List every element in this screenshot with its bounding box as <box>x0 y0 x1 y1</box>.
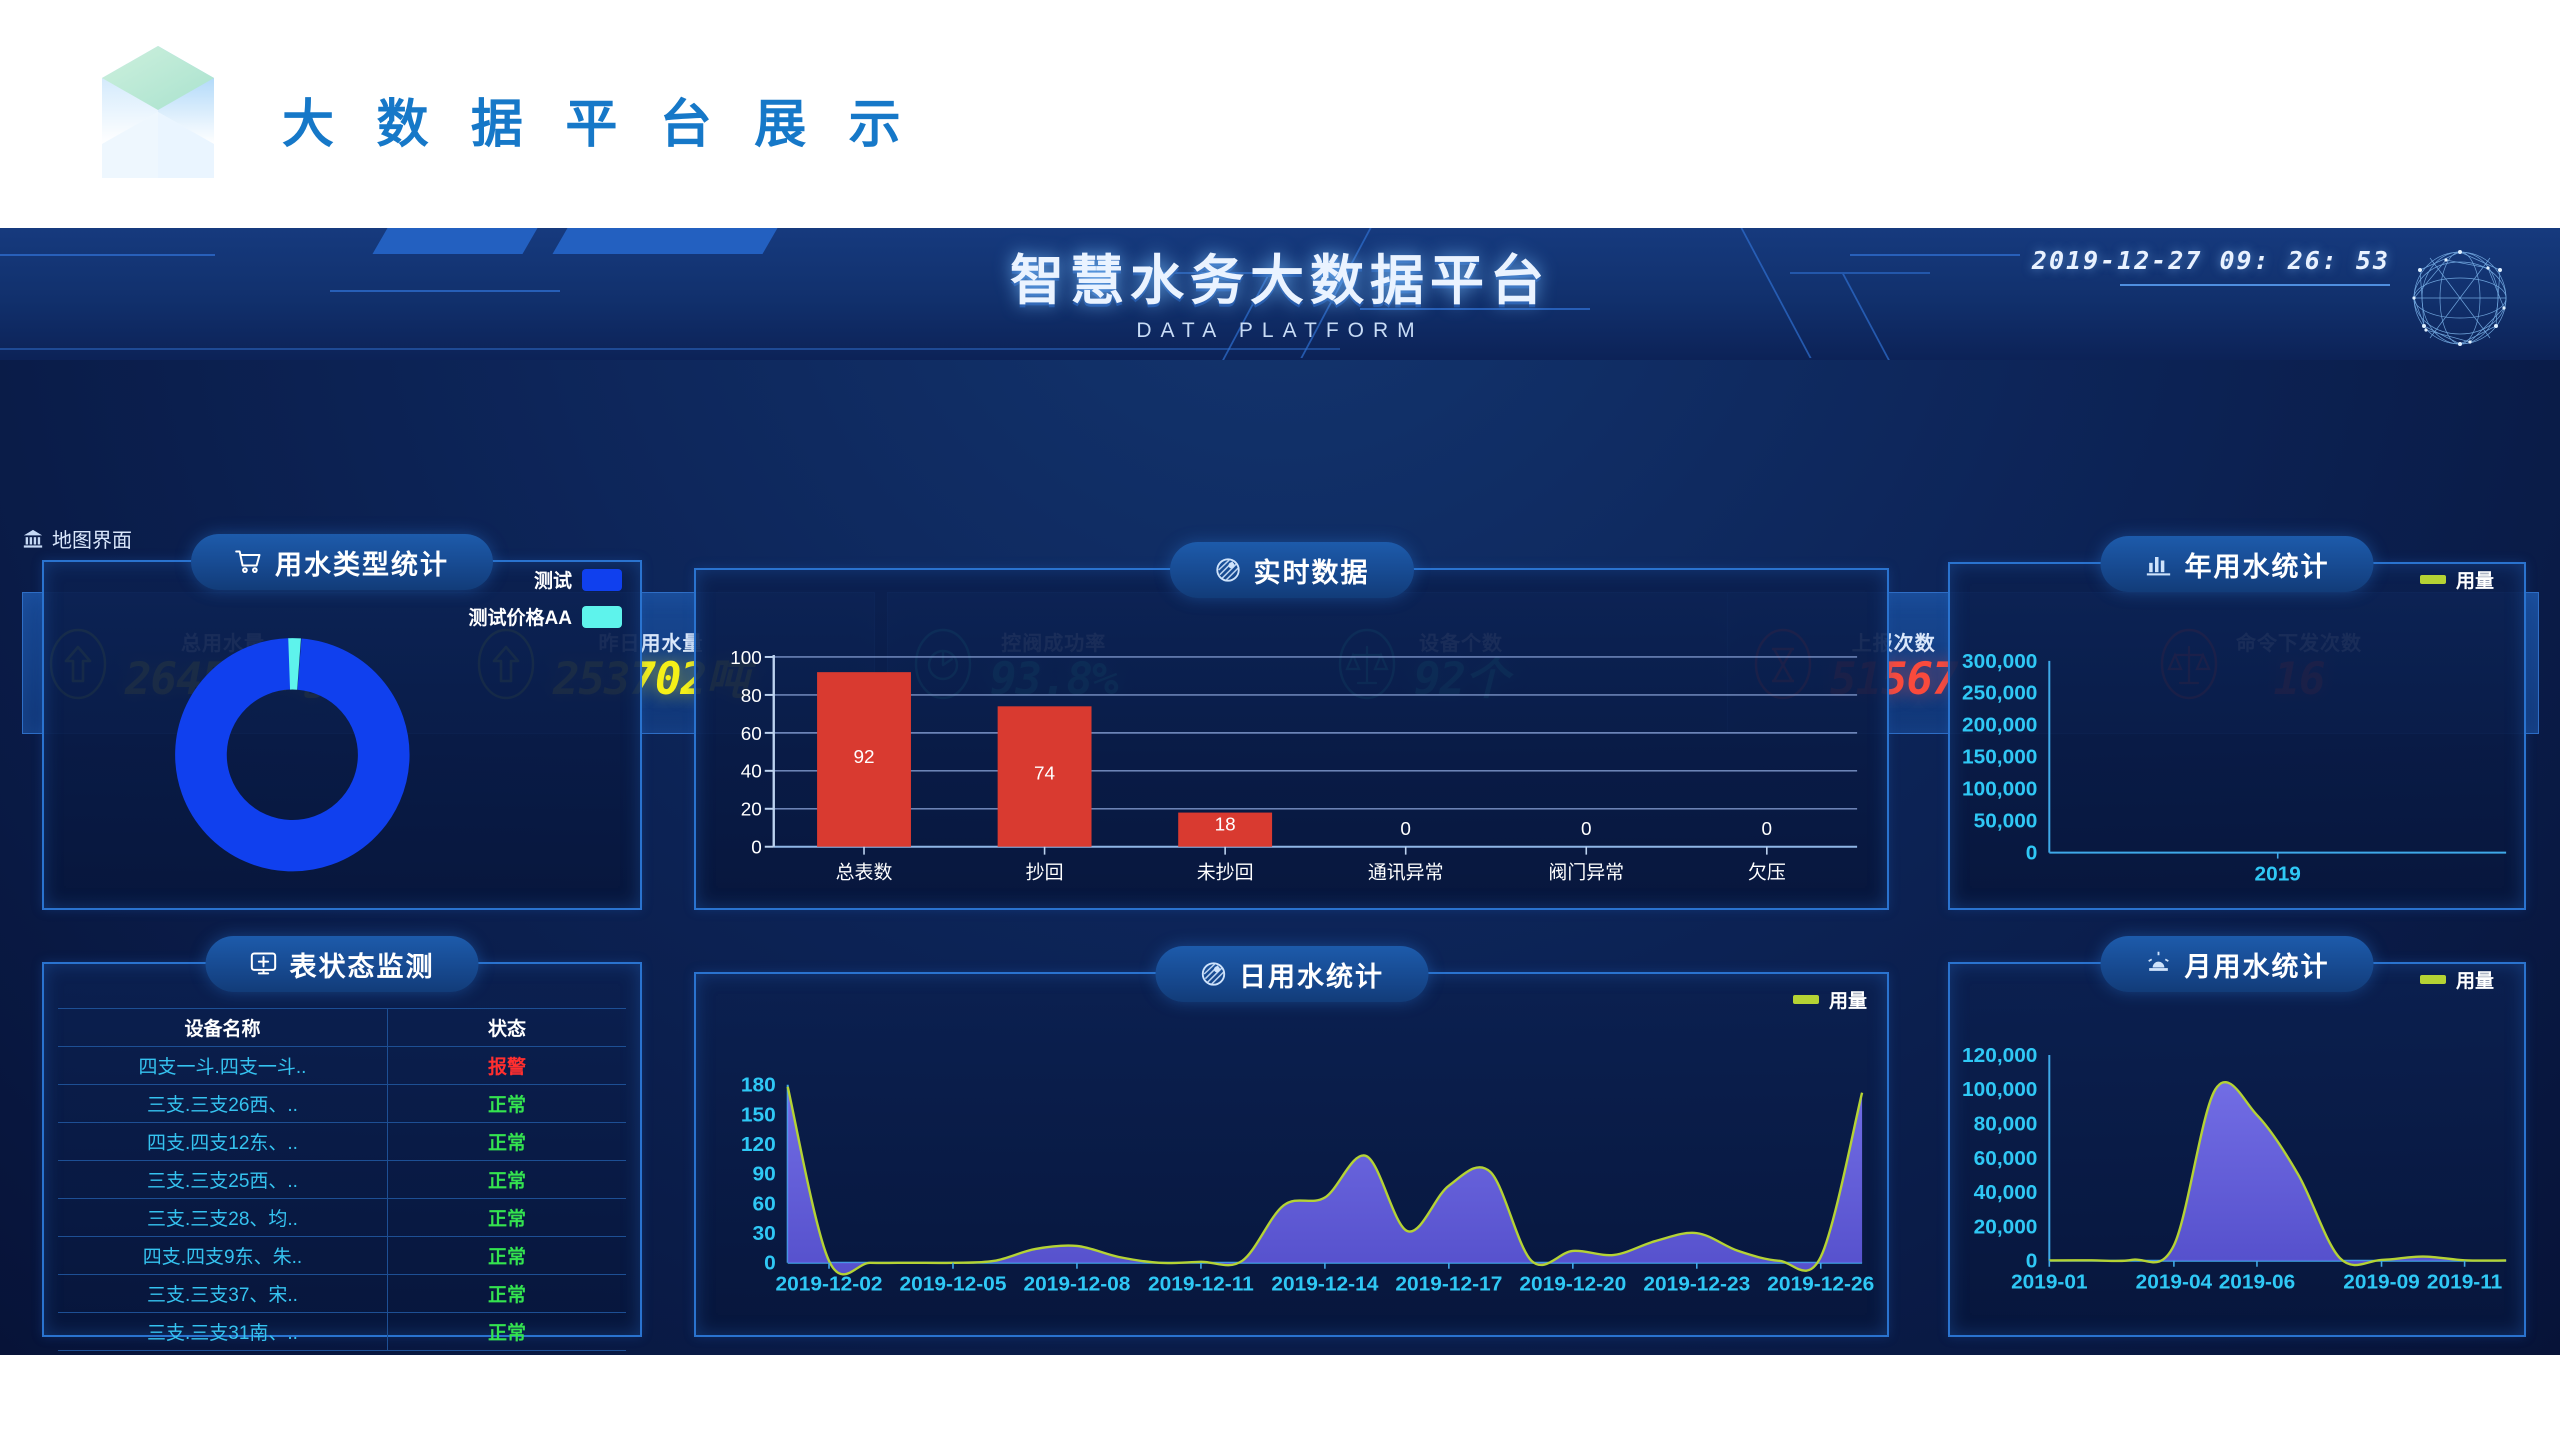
panel-title-text: 月用水统计 <box>2185 945 2330 984</box>
monitor-icon <box>250 950 278 978</box>
svg-text:50,000: 50,000 <box>1974 810 2038 833</box>
legend-item: 用量 <box>1793 986 1867 1013</box>
svg-text:0: 0 <box>2026 1250 2038 1273</box>
dashboard-subtitle: DATA PLATFORM <box>0 319 2560 343</box>
svg-text:200,000: 200,000 <box>1962 714 2037 737</box>
cube-logo-icon <box>98 32 218 192</box>
banner-title: 大 数 据 平 台 展 示 <box>282 82 915 157</box>
svg-text:250,000: 250,000 <box>1962 682 2037 705</box>
svg-text:2019-12-11: 2019-12-11 <box>1148 1273 1254 1296</box>
svg-text:2019-12-23: 2019-12-23 <box>1643 1273 1750 1296</box>
svg-text:30: 30 <box>752 1222 775 1245</box>
panel-title-text: 日用水统计 <box>1239 955 1384 994</box>
cell-device-name: 三支.三支26西、.. <box>58 1085 387 1123</box>
table-row[interactable]: 四支.四支9东、朱..正常 <box>58 1237 626 1275</box>
legend-label: 用量 <box>2456 566 2494 593</box>
table-row[interactable]: 三支.三支26西、..正常 <box>58 1085 626 1123</box>
legend-item: 测试价格AA <box>400 603 622 630</box>
svg-text:0: 0 <box>1400 818 1411 839</box>
panel-title-text: 年用水统计 <box>2185 545 2330 584</box>
cell-device-name: 四支一斗.四支一斗.. <box>58 1047 387 1085</box>
clock-display: 2019-12-27 09: 26: 53 <box>2032 246 2390 275</box>
panel-yearly: 年用水统计 050,000100,000150,000200,000250,00… <box>1948 562 2526 910</box>
svg-text:120,000: 120,000 <box>1962 1044 2037 1067</box>
cell-device-name: 四支.四支12东、.. <box>58 1123 387 1161</box>
svg-text:2019-01: 2019-01 <box>2011 1271 2087 1294</box>
svg-text:2019-12-08: 2019-12-08 <box>1023 1273 1130 1296</box>
panel-title-text: 用水类型统计 <box>275 543 449 582</box>
svg-text:2019-12-17: 2019-12-17 <box>1395 1273 1502 1296</box>
svg-text:20,000: 20,000 <box>1974 1215 2038 1238</box>
clock-underline <box>2120 284 2390 286</box>
table-row[interactable]: 三支.三支31南、..正常 <box>58 1313 626 1351</box>
svg-text:80,000: 80,000 <box>1974 1113 2038 1136</box>
cell-device-name: 三支.三支31南、.. <box>58 1313 387 1351</box>
cell-status: 正常 <box>387 1123 626 1161</box>
cart-icon <box>235 548 263 576</box>
svg-text:欠压: 欠压 <box>1748 861 1786 882</box>
svg-text:阀门异常: 阀门异常 <box>1548 861 1624 882</box>
svg-text:2019-04: 2019-04 <box>2136 1271 2213 1294</box>
monthly-legend: 用量 <box>2420 966 2494 1003</box>
cell-status: 正常 <box>387 1275 626 1313</box>
globe-grid-icon <box>1199 960 1227 988</box>
table-row[interactable]: 四支.四支12东、..正常 <box>58 1123 626 1161</box>
cell-device-name: 三支.三支28、均.. <box>58 1199 387 1237</box>
nav-map-button[interactable]: 地图界面 <box>22 524 132 553</box>
cell-status: 正常 <box>387 1161 626 1199</box>
th-device-name: 设备名称 <box>58 1009 387 1047</box>
cell-device-name: 四支.四支9东、朱.. <box>58 1237 387 1275</box>
svg-text:0: 0 <box>1762 818 1773 839</box>
svg-text:40,000: 40,000 <box>1974 1181 2038 1204</box>
svg-text:2019-12-05: 2019-12-05 <box>900 1273 1007 1296</box>
svg-text:40: 40 <box>741 761 762 782</box>
svg-text:2019-12-20: 2019-12-20 <box>1519 1273 1626 1296</box>
panel-realtime: 实时数据 02040608010092总表数74抄回18未抄回0通讯异常0阀门异… <box>694 568 1889 910</box>
svg-text:100,000: 100,000 <box>1962 778 2037 801</box>
svg-text:74: 74 <box>1034 762 1055 783</box>
svg-text:100: 100 <box>730 647 762 668</box>
panel-daily-title: 日用水统计 <box>1155 946 1428 1002</box>
svg-text:150: 150 <box>741 1103 776 1126</box>
yearly-area-chart: 050,000100,000150,000200,000250,000300,0… <box>1950 564 2524 908</box>
svg-text:2019-12-26: 2019-12-26 <box>1767 1273 1874 1296</box>
bar-chart-icon <box>2145 550 2173 578</box>
legend-swatch <box>582 606 622 628</box>
table-row[interactable]: 三支.三支37、宋..正常 <box>58 1275 626 1313</box>
panel-yearly-title: 年用水统计 <box>2101 536 2374 592</box>
svg-text:18: 18 <box>1215 813 1236 834</box>
bank-building-icon <box>22 528 44 550</box>
svg-text:92: 92 <box>853 746 874 767</box>
svg-text:0: 0 <box>2026 842 2038 865</box>
svg-text:150,000: 150,000 <box>1962 746 2037 769</box>
cell-device-name: 三支.三支37、宋.. <box>58 1275 387 1313</box>
legend-swatch <box>1793 995 1819 1004</box>
panel-title-text: 实时数据 <box>1254 551 1370 590</box>
svg-text:抄回: 抄回 <box>1026 861 1064 882</box>
svg-text:2019-06: 2019-06 <box>2219 1271 2295 1294</box>
svg-text:总表数: 总表数 <box>836 861 893 882</box>
svg-text:通讯异常: 通讯异常 <box>1368 861 1444 882</box>
nav-map-label: 地图界面 <box>52 524 132 553</box>
cell-status: 正常 <box>387 1313 626 1351</box>
svg-text:2019-12-14: 2019-12-14 <box>1271 1273 1378 1296</box>
meter-state-table: 设备名称 状态 四支一斗.四支一斗..报警三支.三支26西、..正常四支.四支1… <box>58 1008 626 1325</box>
legend-label: 测试价格AA <box>469 603 572 630</box>
panel-water-type-title: 用水类型统计 <box>191 534 493 590</box>
network-globe-icon <box>2400 238 2520 358</box>
svg-text:2019-12-02: 2019-12-02 <box>776 1273 883 1296</box>
panel-realtime-title: 实时数据 <box>1170 542 1414 598</box>
svg-text:120: 120 <box>741 1133 776 1156</box>
yearly-legend: 用量 <box>2420 566 2494 603</box>
globe-grid-icon <box>1214 556 1242 584</box>
th-status: 状态 <box>387 1009 626 1047</box>
svg-text:60: 60 <box>741 723 762 744</box>
daily-area-chart: 03060901201501802019-12-022019-12-052019… <box>696 974 1887 1335</box>
cell-device-name: 三支.三支25西、.. <box>58 1161 387 1199</box>
svg-text:20: 20 <box>741 799 762 820</box>
legend-item: 用量 <box>2420 566 2494 593</box>
svg-text:100,000: 100,000 <box>1962 1078 2037 1101</box>
cell-status: 正常 <box>387 1237 626 1275</box>
panel-monthly: 月用水统计 020,00040,00060,00080,000100,00012… <box>1948 962 2526 1337</box>
svg-text:未抄回: 未抄回 <box>1197 861 1254 882</box>
alarm-lamp-icon <box>2145 950 2173 978</box>
svg-text:60: 60 <box>752 1192 775 1215</box>
svg-text:0: 0 <box>1581 818 1592 839</box>
svg-text:0: 0 <box>764 1252 776 1275</box>
table-row[interactable]: 三支.三支25西、..正常 <box>58 1161 626 1199</box>
dashboard-header: 智慧水务大数据平台 DATA PLATFORM 2019-12-27 09: 2… <box>0 228 2560 360</box>
monthly-area-chart: 020,00040,00060,00080,000100,000120,0002… <box>1950 964 2524 1335</box>
legend-label: 测试 <box>534 566 572 593</box>
legend-item: 用量 <box>2420 966 2494 993</box>
panel-monthly-title: 月用水统计 <box>2101 936 2374 992</box>
svg-text:0: 0 <box>751 837 762 858</box>
cell-status: 报警 <box>387 1047 626 1085</box>
svg-text:80: 80 <box>741 685 762 706</box>
cell-status: 正常 <box>387 1085 626 1123</box>
svg-text:2019-09: 2019-09 <box>2343 1271 2419 1294</box>
realtime-bar-chart: 02040608010092总表数74抄回18未抄回0通讯异常0阀门异常0欠压 <box>696 570 1887 908</box>
cell-status: 正常 <box>387 1199 626 1237</box>
svg-text:300,000: 300,000 <box>1962 650 2037 673</box>
legend-label: 用量 <box>1829 986 1867 1013</box>
svg-text:90: 90 <box>752 1163 775 1186</box>
panel-meter-state: 表状态监测 设备名称 状态 四支一斗.四支一斗..报警三支.三支26西、..正常… <box>42 962 642 1337</box>
svg-text:2019-11: 2019-11 <box>2427 1271 2502 1294</box>
panel-daily: 日用水统计 用量 03060901201501802019-12-022019-… <box>694 972 1889 1337</box>
svg-text:60,000: 60,000 <box>1974 1147 2038 1170</box>
table-header-row: 设备名称 状态 <box>58 1009 626 1047</box>
panel-title-text: 表状态监测 <box>290 945 435 984</box>
table-row[interactable]: 四支一斗.四支一斗..报警 <box>58 1047 626 1085</box>
svg-text:180: 180 <box>741 1074 776 1097</box>
panel-meter-state-title: 表状态监测 <box>206 936 479 992</box>
legend-swatch <box>2420 975 2446 984</box>
svg-text:2019: 2019 <box>2255 862 2301 885</box>
legend-label: 用量 <box>2456 966 2494 993</box>
page-banner: 大 数 据 平 台 展 示 <box>0 0 2560 228</box>
legend-swatch <box>2420 575 2446 584</box>
table-row[interactable]: 三支.三支28、均..正常 <box>58 1199 626 1237</box>
legend-swatch <box>582 569 622 591</box>
daily-legend: 用量 <box>1793 986 1867 1023</box>
